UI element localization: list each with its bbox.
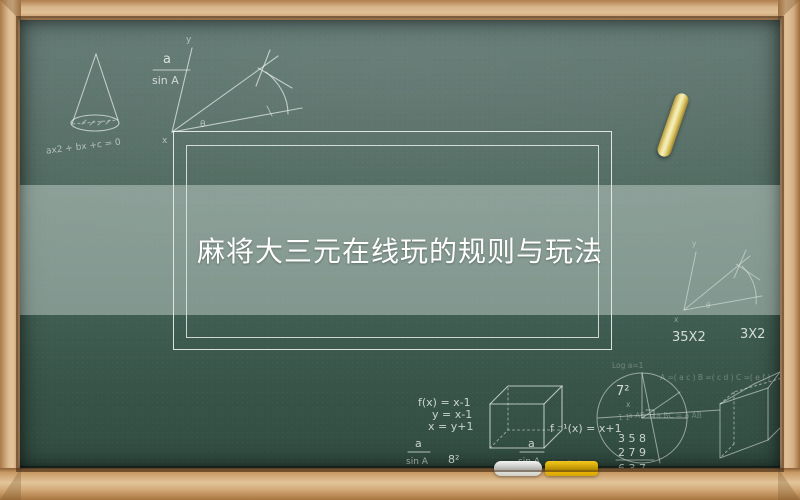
frame-miter-bottom-left — [0, 468, 21, 500]
frame-inner-bevel — [18, 18, 782, 470]
frame-bottom-ledge — [0, 468, 800, 500]
chalkboard-banner: a sin A y x θ ax2 + — [0, 0, 800, 500]
frame-miter-bottom-right — [778, 468, 800, 500]
